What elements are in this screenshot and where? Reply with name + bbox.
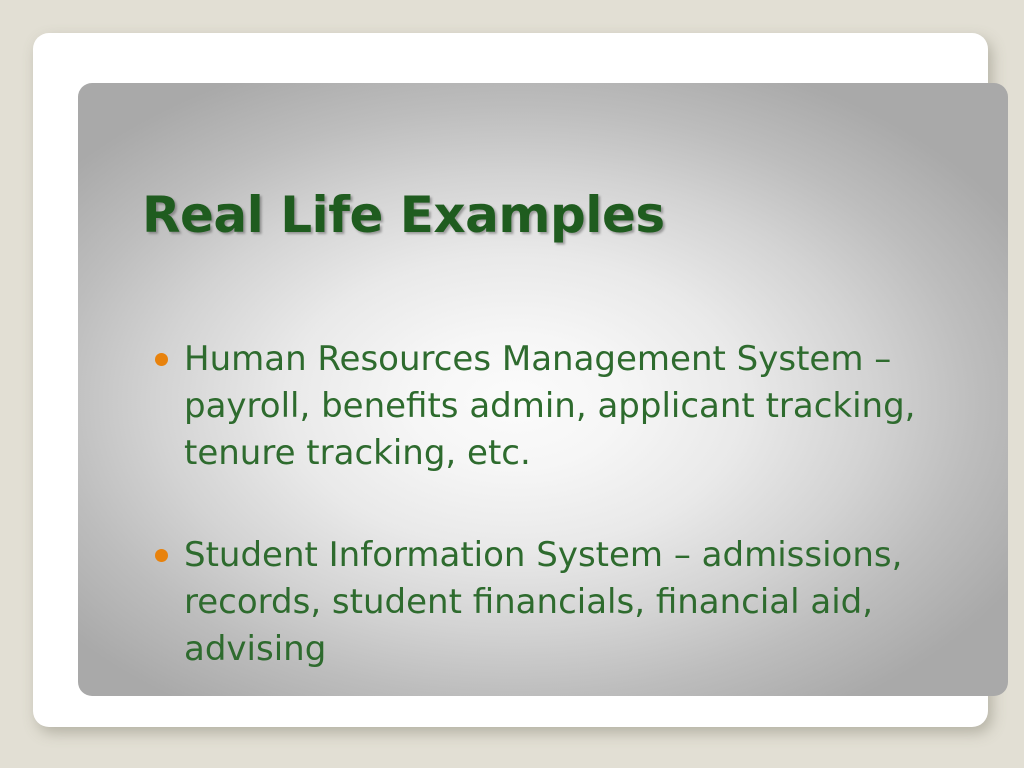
page-title: Real Life Examples [142, 186, 665, 244]
list-item: Student Information System – admissions,… [142, 532, 1008, 673]
list-item-text: Student Information System – admissions,… [184, 535, 902, 669]
list-item: Human Resources Management System – payr… [142, 336, 1008, 477]
slide-card: Real Life Examples Human Resources Manag… [33, 33, 988, 727]
bullet-dot-icon [155, 353, 168, 366]
slide-root: Real Life Examples Human Resources Manag… [0, 0, 1024, 768]
list-item-text: Human Resources Management System – payr… [184, 339, 915, 473]
bullet-dot-icon [155, 549, 168, 562]
bullet-list: Human Resources Management System – payr… [142, 336, 1008, 673]
slide-content-panel: Real Life Examples Human Resources Manag… [78, 83, 1008, 696]
